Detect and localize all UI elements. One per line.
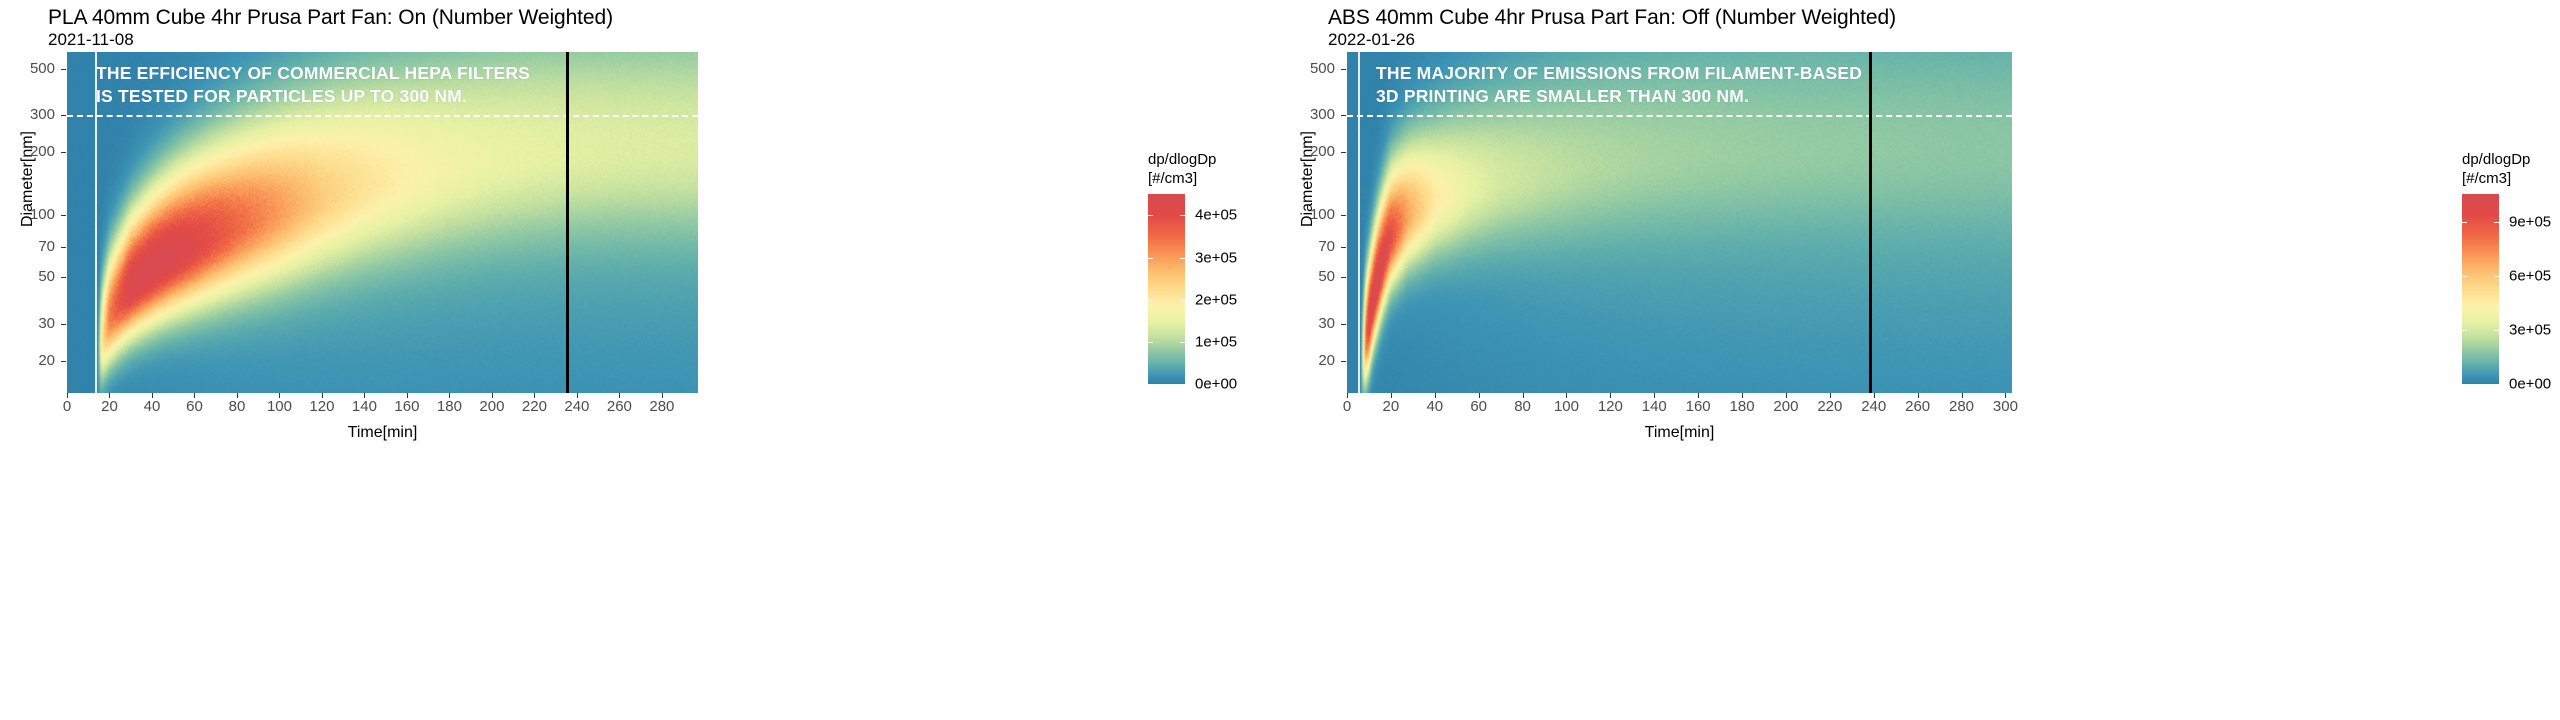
legend-tick-label: 2e+05 [1195, 291, 1237, 308]
legend-tick-label: 3e+05 [1195, 249, 1237, 266]
x-axis-title: Time[min] [67, 424, 698, 442]
legend-tick-mark [1148, 300, 1153, 301]
y-axis-tick-label: 100 [1280, 208, 1335, 222]
panel-subtitle: 2021-11-08 [48, 30, 134, 50]
x-axis-tick-label: 100 [267, 398, 292, 415]
legend: dp/dlogDp [#/cm3] 0e+003e+056e+059e+05 [2462, 150, 2560, 384]
x-axis-tick-mark [1742, 393, 1743, 398]
legend-tick-mark [2494, 276, 2499, 277]
legend-tick-label: 3e+05 [2509, 322, 2551, 339]
legend-tick-mark [1180, 342, 1185, 343]
x-axis-tick-mark [322, 393, 323, 398]
x-axis-tick-mark [279, 393, 280, 398]
legend-tick-labels: 0e+001e+052e+053e+054e+05 [1185, 194, 1271, 384]
x-axis-tick-mark [492, 393, 493, 398]
y-axis-tick-label: 70 [0, 240, 55, 254]
x-axis-tick-label: 120 [309, 398, 334, 415]
legend-tick-labels: 0e+003e+056e+059e+05 [2499, 194, 2560, 384]
y-axis-tick-label: 20 [0, 354, 55, 368]
x-axis-tick-label: 140 [1642, 398, 1667, 415]
y-axis-tick-mark [61, 324, 66, 325]
x-axis-tick-label: 0 [63, 398, 71, 415]
legend-tick-label: 9e+05 [2509, 213, 2551, 230]
legend-tick-mark [2462, 222, 2467, 223]
legend-tick-mark [1148, 258, 1153, 259]
y-axis-tick-mark [61, 115, 66, 116]
x-axis-tick-label: 260 [1905, 398, 1930, 415]
legend-tick-mark [1148, 342, 1153, 343]
x-axis-tick-mark [1566, 393, 1567, 398]
x-axis-tick-mark [1786, 393, 1787, 398]
panel-title: PLA 40mm Cube 4hr Prusa Part Fan: On (Nu… [48, 6, 613, 30]
x-axis-tick-label: 100 [1554, 398, 1579, 415]
legend-tick-label: 0e+00 [1195, 376, 1237, 393]
x-axis-tick-mark [1391, 393, 1392, 398]
panel-subtitle: 2022-01-26 [1328, 30, 1415, 50]
legend-tick-label: 6e+05 [2509, 267, 2551, 284]
y-axis-tick-mark [1341, 277, 1346, 278]
panel-title: ABS 40mm Cube 4hr Prusa Part Fan: Off (N… [1328, 6, 1896, 30]
x-axis-tick-mark [109, 393, 110, 398]
x-axis-title: Time[min] [1347, 424, 2012, 442]
y-axis-tick-mark [1341, 215, 1346, 216]
legend-tick-mark [2462, 330, 2467, 331]
x-axis-tick-label: 260 [607, 398, 632, 415]
x-axis-tick-label: 180 [1730, 398, 1755, 415]
x-axis-tick-mark [2005, 393, 2006, 398]
x-axis-tick-label: 120 [1598, 398, 1623, 415]
x-axis-tick-label: 160 [1686, 398, 1711, 415]
x-axis-tick-mark [1830, 393, 1831, 398]
x-axis-tick-label: 240 [1861, 398, 1886, 415]
x-axis-tick-mark [1523, 393, 1524, 398]
x-axis-tick-label: 80 [229, 398, 246, 415]
x-axis-tick-mark [619, 393, 620, 398]
panel-pla: PLA 40mm Cube 4hr Prusa Part Fan: On (Nu… [0, 0, 1280, 720]
figure-root: PLA 40mm Cube 4hr Prusa Part Fan: On (Nu… [0, 0, 2560, 720]
legend-tick-mark [1148, 215, 1153, 216]
y-axis-tick-label: 70 [1280, 240, 1335, 254]
x-axis-tick-mark [1698, 393, 1699, 398]
y-axis-tick-mark [61, 247, 66, 248]
x-axis-tick-mark [67, 393, 68, 398]
legend-tick-mark [1180, 300, 1185, 301]
y-axis-tick-label: 50 [0, 270, 55, 284]
legend-tick-mark [2494, 330, 2499, 331]
x-axis-tick-label: 60 [1470, 398, 1487, 415]
y-axis-tick-mark [1341, 115, 1346, 116]
x-axis-tick-mark [152, 393, 153, 398]
legend-tick-mark [2494, 222, 2499, 223]
x-axis-tick-mark [577, 393, 578, 398]
y-axis-tick-mark [1341, 324, 1346, 325]
x-axis-tick-label: 0 [1343, 398, 1351, 415]
x-axis-tick-mark [194, 393, 195, 398]
legend-body: 0e+001e+052e+053e+054e+05 [1148, 194, 1271, 384]
legend-tick-label: 4e+05 [1195, 207, 1237, 224]
x-axis-tick-mark [1962, 393, 1963, 398]
y-axis-tick-label: 30 [1280, 317, 1335, 331]
y-axis-tick-mark [61, 361, 66, 362]
x-axis-tick-mark [364, 393, 365, 398]
x-axis-tick-label: 140 [352, 398, 377, 415]
x-axis-tick-label: 240 [564, 398, 589, 415]
y-axis-tick-label: 200 [1280, 145, 1335, 159]
legend-colorbar [1148, 194, 1185, 384]
x-axis-tick-mark [1610, 393, 1611, 398]
legend-title: dp/dlogDp [#/cm3] [2462, 150, 2560, 188]
y-axis-tick-label: 50 [1280, 270, 1335, 284]
x-axis-tick-label: 200 [479, 398, 504, 415]
x-axis-tick-label: 220 [522, 398, 547, 415]
x-axis-tick-label: 200 [1773, 398, 1798, 415]
y-axis-tick-mark [61, 69, 66, 70]
y-axis-tick-mark [1341, 247, 1346, 248]
plot-annotation: THE MAJORITY OF EMISSIONS FROM FILAMENT-… [1376, 62, 1862, 108]
legend: dp/dlogDp [#/cm3] 0e+001e+052e+053e+054e… [1148, 150, 1271, 384]
x-axis-tick-mark [1347, 393, 1348, 398]
x-axis-tick-mark [449, 393, 450, 398]
x-axis-tick-mark [1654, 393, 1655, 398]
x-axis-tick-label: 60 [186, 398, 203, 415]
legend-tick-mark [1180, 258, 1185, 259]
legend-title: dp/dlogDp [#/cm3] [1148, 150, 1271, 188]
x-axis-tick-mark [1874, 393, 1875, 398]
x-axis-tick-mark [1435, 393, 1436, 398]
x-axis-tick-label: 20 [1383, 398, 1400, 415]
x-axis-tick-label: 80 [1514, 398, 1531, 415]
x-axis-tick-mark [407, 393, 408, 398]
x-axis-tick-label: 180 [437, 398, 462, 415]
x-axis-tick-mark [1479, 393, 1480, 398]
y-axis-tick-mark [61, 215, 66, 216]
x-axis-tick-mark [237, 393, 238, 398]
y-axis-tick-label: 300 [0, 108, 55, 122]
x-axis-tick-label: 220 [1817, 398, 1842, 415]
y-axis-tick-mark [1341, 69, 1346, 70]
y-axis-tick-label: 30 [0, 317, 55, 331]
x-axis-tick-mark [1918, 393, 1919, 398]
y-axis-tick-mark [1341, 152, 1346, 153]
legend-tick-label: 1e+05 [1195, 334, 1237, 351]
y-axis-tick-label: 500 [0, 62, 55, 76]
x-axis-tick-label: 280 [1949, 398, 1974, 415]
panel-abs: ABS 40mm Cube 4hr Prusa Part Fan: Off (N… [1280, 0, 2560, 720]
x-axis-tick-label: 40 [144, 398, 161, 415]
y-axis-tick-mark [61, 152, 66, 153]
legend-tick-mark [1180, 215, 1185, 216]
x-axis-tick-mark [662, 393, 663, 398]
legend-body: 0e+003e+056e+059e+05 [2462, 194, 2560, 384]
legend-tick-mark [2462, 276, 2467, 277]
legend-colorbar [2462, 194, 2499, 384]
x-axis-tick-label: 300 [1993, 398, 2018, 415]
x-axis-tick-label: 160 [394, 398, 419, 415]
x-axis-tick-label: 280 [649, 398, 674, 415]
x-axis-tick-label: 20 [101, 398, 118, 415]
legend-tick-label: 0e+00 [2509, 376, 2551, 393]
y-axis-tick-label: 200 [0, 145, 55, 159]
x-axis-tick-mark [534, 393, 535, 398]
y-axis-tick-label: 100 [0, 208, 55, 222]
y-axis-tick-label: 20 [1280, 354, 1335, 368]
y-axis-tick-mark [1341, 361, 1346, 362]
y-axis-tick-mark [61, 277, 66, 278]
y-axis-tick-label: 500 [1280, 62, 1335, 76]
y-axis-tick-label: 300 [1280, 108, 1335, 122]
plot-annotation: THE EFFICIENCY OF COMMERCIAL HEPA FILTER… [96, 62, 530, 108]
x-axis-tick-label: 40 [1426, 398, 1443, 415]
